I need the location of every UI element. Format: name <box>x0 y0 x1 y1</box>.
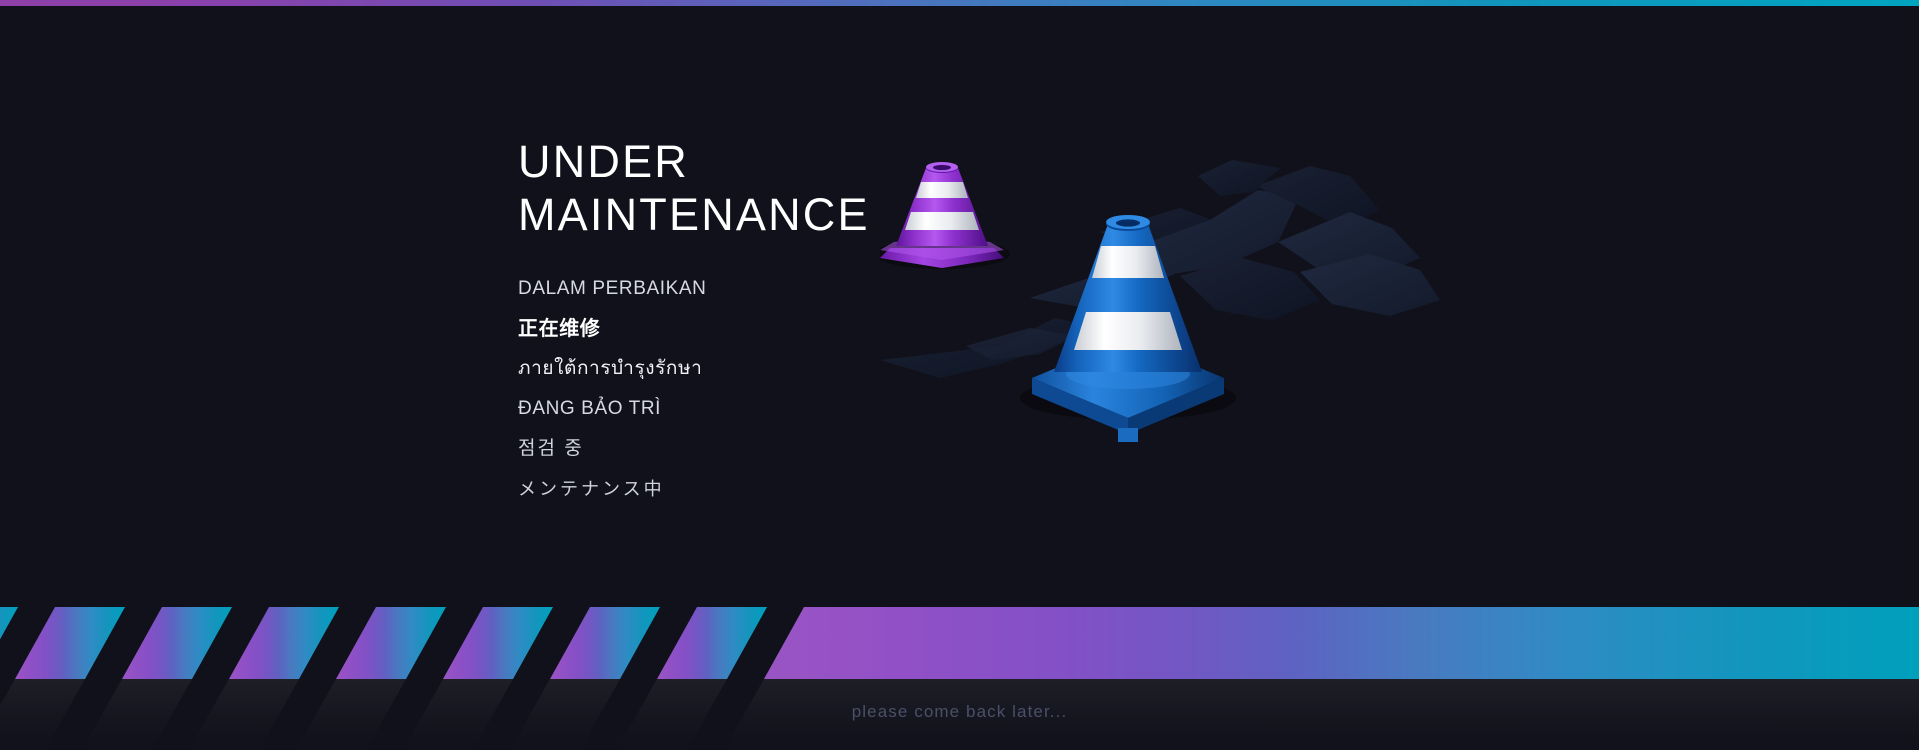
traffic-cone-purple <box>880 162 1010 269</box>
translation-korean: 점검 중 <box>518 429 707 469</box>
translation-indonesian: DALAM PERBAIKAN <box>518 269 707 309</box>
translations-list: DALAM PERBAIKAN 正在维修 ภายใต้การบำรุงรักษา… <box>518 269 707 509</box>
translation-japanese: メンテナンス中 <box>518 469 707 509</box>
maintenance-page: UNDER MAINTENANCE DALAM PERBAIKAN 正在维修 ภ… <box>0 0 1919 750</box>
translation-vietnamese: ĐANG BẢO TRÌ <box>518 389 707 429</box>
hazard-stripe-band <box>0 607 1919 679</box>
top-accent-bar <box>0 0 1919 6</box>
translation-chinese: 正在维修 <box>518 309 707 349</box>
page-title: UNDER MAINTENANCE <box>518 135 870 241</box>
translation-thai: ภายใต้การบำรุงรักษา <box>518 349 707 389</box>
footer-note: please come back later... <box>0 702 1919 722</box>
traffic-cone-illustration <box>880 150 1440 510</box>
